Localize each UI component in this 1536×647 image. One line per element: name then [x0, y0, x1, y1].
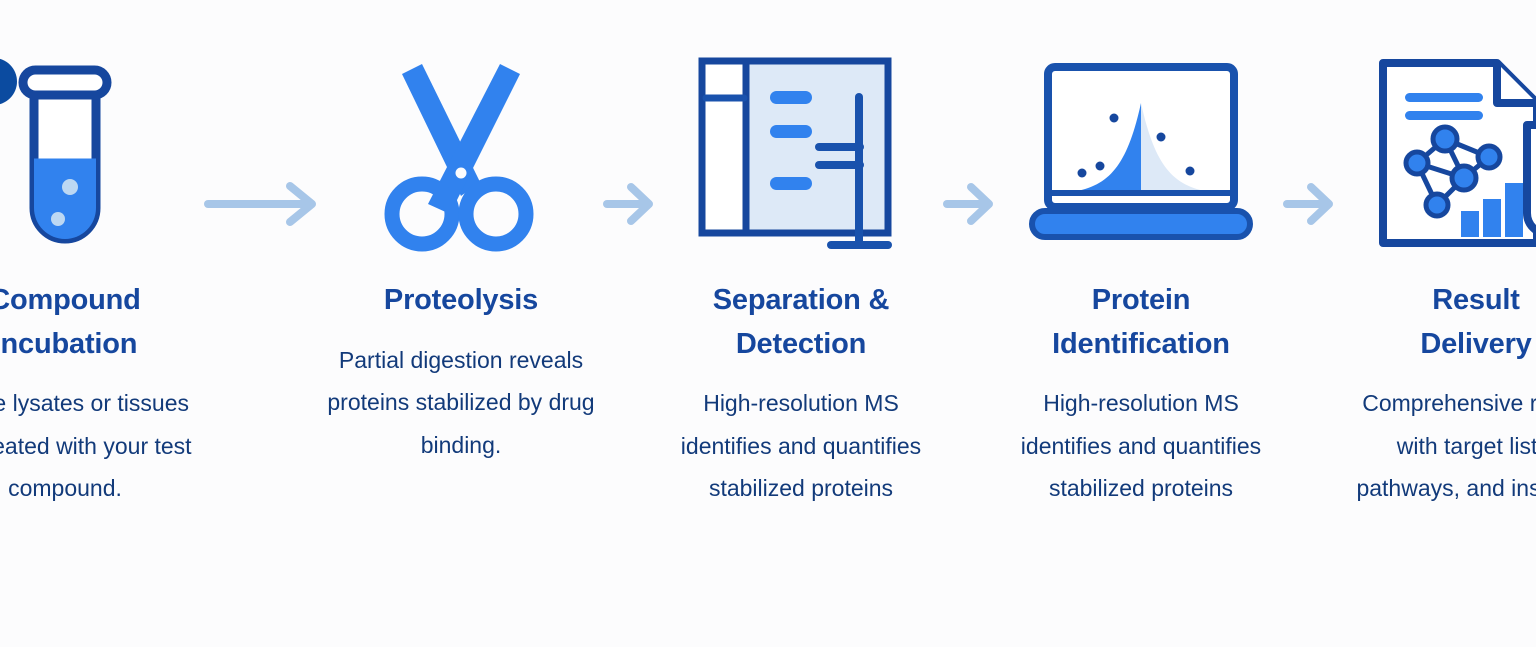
step-protein-identification: Protein Identification High-resolution M… [1002, 48, 1280, 510]
arrow-step1-to-step2 [204, 96, 322, 311]
step-title-4-line2: Identification [1052, 328, 1230, 360]
arrow-step2-to-step3 [600, 96, 662, 311]
test-tube-icon [10, 56, 120, 256]
step-separation-detection: Separation & Detection High-resolution M… [662, 48, 940, 510]
step-title-5: Result Delivery [1420, 279, 1531, 366]
arrow-step4-to-step5 [1280, 96, 1342, 311]
step-title-3-line2: Detection [736, 328, 866, 360]
step-5-icon-area [1342, 48, 1536, 263]
arrow-right-icon [943, 181, 999, 227]
laptop-melting-curve-icon [1026, 61, 1256, 251]
step-title-4-line1: Protein [1092, 284, 1191, 316]
step-description-1: Native lysates or tissues are treated wi… [0, 382, 204, 510]
report-document-icon [1369, 53, 1536, 258]
step-title-1-line1: Compound [0, 284, 141, 316]
step-title-3: Separation & Detection [713, 279, 889, 366]
step-title-2: Proteolysis [384, 279, 538, 323]
step-3-icon-area [662, 48, 940, 263]
step-result-delivery: Result Delivery Comprehensive report wit… [1342, 48, 1536, 510]
scissors-icon [376, 56, 546, 256]
step-title-2-line1: Proteolysis [384, 284, 538, 316]
step-description-3: High-resolution MS identifies and quanti… [662, 382, 940, 510]
step-proteolysis: Proteolysis Partial digestion reveals pr… [322, 48, 600, 466]
step-title-4: Protein Identification [1052, 279, 1230, 366]
workflow-diagram: 1 Compound Incubation Native lysates or … [0, 0, 1536, 647]
step-description-2: Partial digestion reveals proteins stabi… [322, 339, 600, 467]
arrow-step3-to-step4 [940, 96, 1002, 311]
step-description-4: High-resolution MS identifies and quanti… [1002, 382, 1280, 510]
step-title-5-line1: Result [1432, 284, 1519, 316]
gel-separation-icon [694, 53, 909, 258]
step-1-icon-area: 1 [0, 48, 204, 263]
step-description-5: Comprehensive report with target lists, … [1342, 382, 1536, 510]
step-2-icon-area [322, 48, 600, 263]
step-compound-incubation: 1 Compound Incubation Native lysates or … [0, 48, 204, 510]
arrow-right-icon [603, 181, 659, 227]
step-title-1-line2: Incubation [0, 328, 137, 360]
arrow-right-icon [204, 181, 322, 227]
step-title-3-line1: Separation & [713, 284, 889, 316]
step-4-icon-area [1002, 48, 1280, 263]
arrow-right-icon [1283, 181, 1339, 227]
step-title-5-line2: Delivery [1420, 328, 1531, 360]
step-title-1: Compound Incubation [0, 279, 141, 366]
